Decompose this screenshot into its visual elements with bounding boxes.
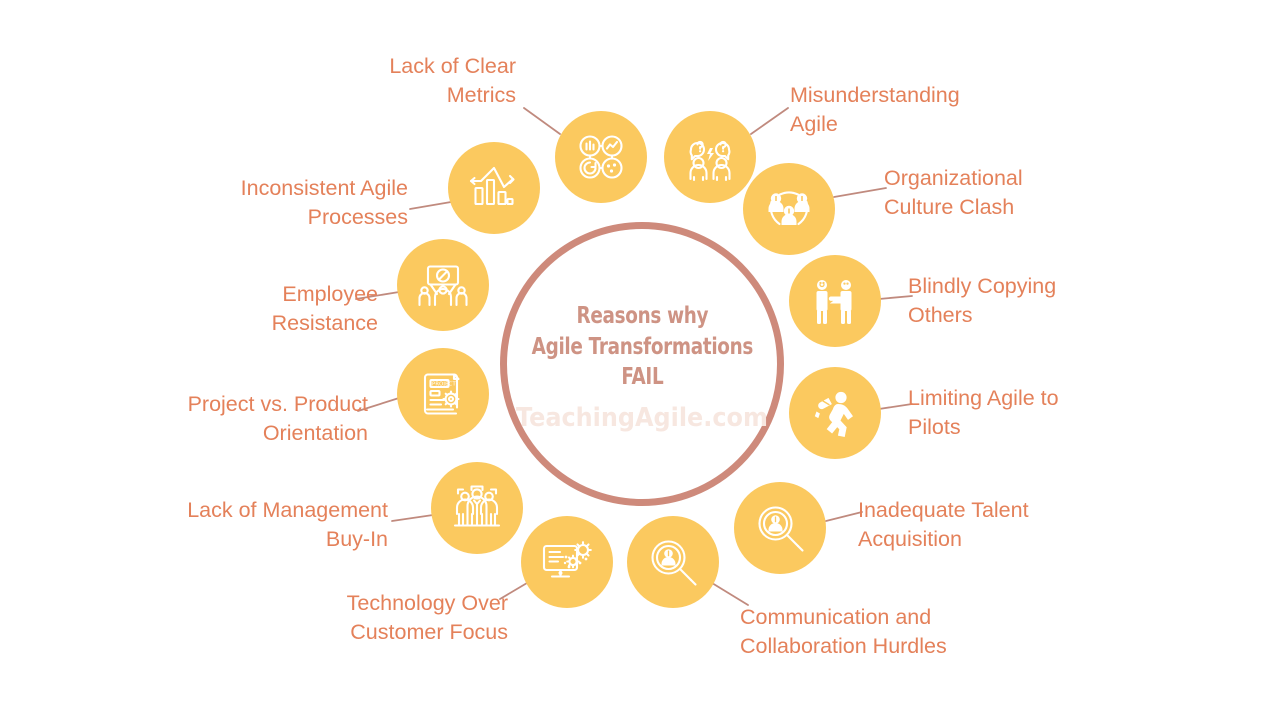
watermark: TeachingAgile.com [516, 403, 768, 433]
hub-title-line-2: Agile Transformations [531, 332, 752, 362]
node-misunderstanding-agile[interactable] [664, 111, 756, 203]
infographic-canvas: Reasons why Agile Transformations FAIL T… [0, 0, 1280, 720]
label-limiting-agile-to-pilots: Limiting Agile to Pilots [908, 384, 1148, 442]
metrics-dashboard-icon [575, 131, 627, 183]
connector-line [524, 108, 560, 134]
label-blindly-copying-others: Blindly Copying Others [908, 272, 1148, 330]
confused-people-icon [683, 131, 737, 183]
node-lack-of-management-buy-in[interactable] [431, 462, 523, 554]
node-project-vs-product-orientation[interactable]: PROJECT [397, 348, 489, 440]
label-communication-collaboration-hurdles: Communication and Collaboration Hurdles [740, 603, 1000, 661]
label-lack-of-management-buy-in: Lack of Management Buy-In [128, 496, 388, 554]
node-inadequate-talent-acquisition[interactable] [734, 482, 826, 574]
connector-line [834, 188, 886, 197]
label-organizational-culture-clash: Organizational Culture Clash [884, 164, 1124, 222]
connector-line [751, 108, 788, 134]
node-inconsistent-agile-processes[interactable] [448, 142, 540, 234]
label-inconsistent-agile-processes: Inconsistent Agile Processes [168, 174, 408, 232]
management-team-icon [450, 483, 504, 533]
node-limiting-agile-to-pilots[interactable] [789, 367, 881, 459]
svg-text:PROJECT: PROJECT [432, 382, 456, 388]
connector-line [712, 583, 748, 605]
team-circle-icon [762, 184, 816, 234]
connector-line [826, 512, 862, 521]
node-employee-resistance[interactable] [397, 239, 489, 331]
person-magnifier-icon [646, 536, 700, 588]
node-technology-over-customer-focus[interactable] [521, 516, 613, 608]
label-employee-resistance: Employee Resistance [178, 280, 378, 338]
connector-line [410, 202, 451, 209]
protest-sign-icon [416, 261, 470, 309]
node-organizational-culture-clash[interactable] [743, 163, 835, 255]
monitor-gears-icon [539, 537, 595, 587]
pointing-person-icon [809, 276, 861, 326]
label-technology-over-customer-focus: Technology Over Customer Focus [278, 589, 508, 647]
label-project-vs-product-orientation: Project vs. Product Orientation [128, 390, 368, 448]
hub-title-line-1: Reasons why [531, 301, 752, 331]
label-misunderstanding-agile: Misunderstanding Agile [790, 81, 1020, 139]
hub-title: Reasons why Agile Transformations FAIL [531, 301, 752, 392]
node-communication-collaboration-hurdles[interactable] [627, 516, 719, 608]
node-blindly-copying-others[interactable] [789, 255, 881, 347]
label-inadequate-talent-acquisition: Inadequate Talent Acquisition [858, 496, 1098, 554]
bar-chart-arrow-icon [467, 165, 521, 211]
connector-line [392, 515, 433, 521]
running-jetpack-icon [808, 387, 862, 439]
person-magnifier-icon [753, 502, 807, 554]
label-lack-of-clear-metrics: Lack of Clear Metrics [286, 52, 516, 110]
hub-title-line-3: FAIL [531, 362, 752, 392]
project-document-gear-icon: PROJECT [418, 368, 468, 420]
center-hub: Reasons why Agile Transformations FAIL T… [500, 222, 784, 506]
node-lack-of-clear-metrics[interactable] [555, 111, 647, 203]
